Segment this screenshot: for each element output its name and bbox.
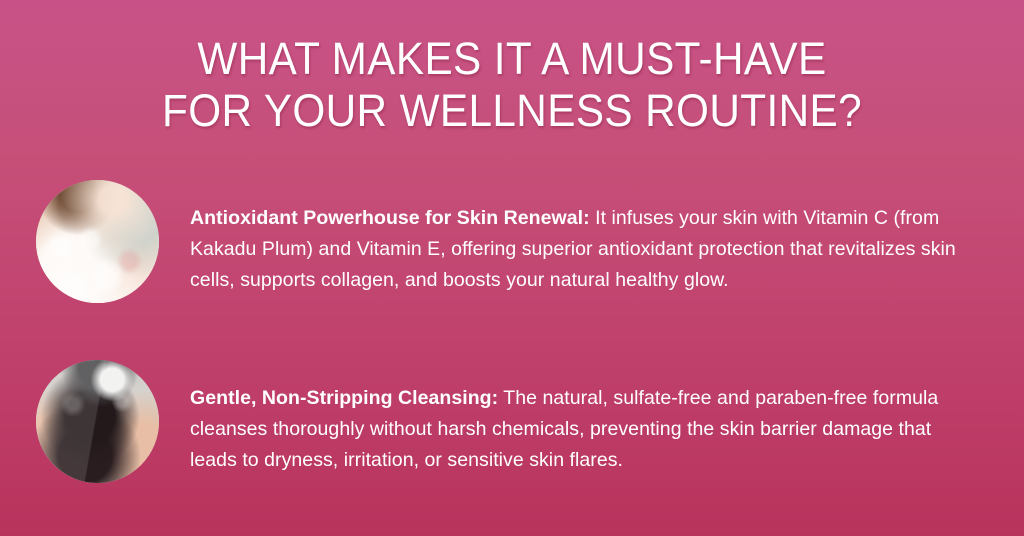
feature-lead-1: Gentle, Non-Stripping Cleansing:: [190, 387, 498, 409]
feature-item-antioxidant: Antioxidant Powerhouse for Skin Renewal:…: [0, 180, 1024, 315]
wellness-benefits-slide: WHAT MAKES IT A MUST-HAVE FOR YOUR WELLN…: [0, 0, 1024, 536]
feature-text-1: Gentle, Non-Stripping Cleansing: The nat…: [190, 380, 978, 476]
feature-image-0: [36, 180, 159, 303]
title-line-2: FOR YOUR WELLNESS ROUTINE?: [31, 85, 994, 137]
feature-item-gentle-cleansing: Gentle, Non-Stripping Cleansing: The nat…: [0, 360, 1024, 495]
woman-with-soap-suds-on-shoulder-photo: [36, 180, 159, 303]
title-line-1: WHAT MAKES IT A MUST-HAVE: [31, 33, 994, 85]
feature-lead-0: Antioxidant Powerhouse for Skin Renewal:: [190, 207, 590, 229]
page-title: WHAT MAKES IT A MUST-HAVE FOR YOUR WELLN…: [0, 33, 1024, 137]
woman-washing-hair-in-shower-photo: [36, 360, 159, 483]
feature-text-0: Antioxidant Powerhouse for Skin Renewal:…: [190, 200, 978, 296]
feature-image-1: [36, 360, 159, 483]
